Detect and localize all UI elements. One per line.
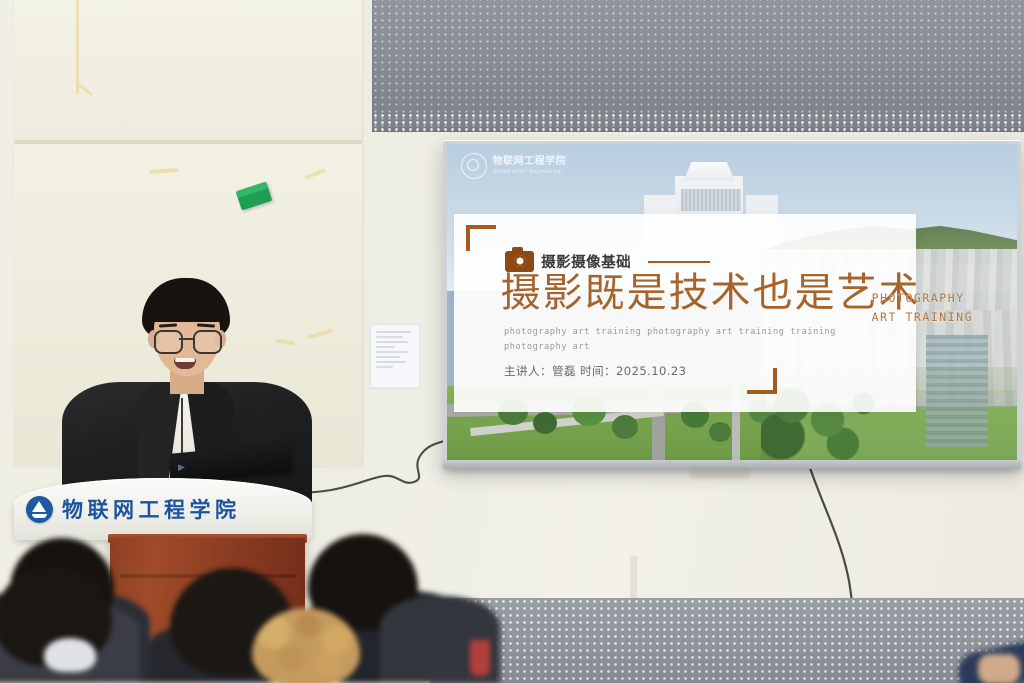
audience-foreground (0, 0, 1024, 683)
screenshot-root: 物联网工程学院 School of IoT Engineering 摄影摄像基础… (0, 0, 1024, 683)
audience-hand (978, 654, 1020, 683)
red-object (470, 640, 490, 676)
audience-face-mask (44, 638, 96, 672)
